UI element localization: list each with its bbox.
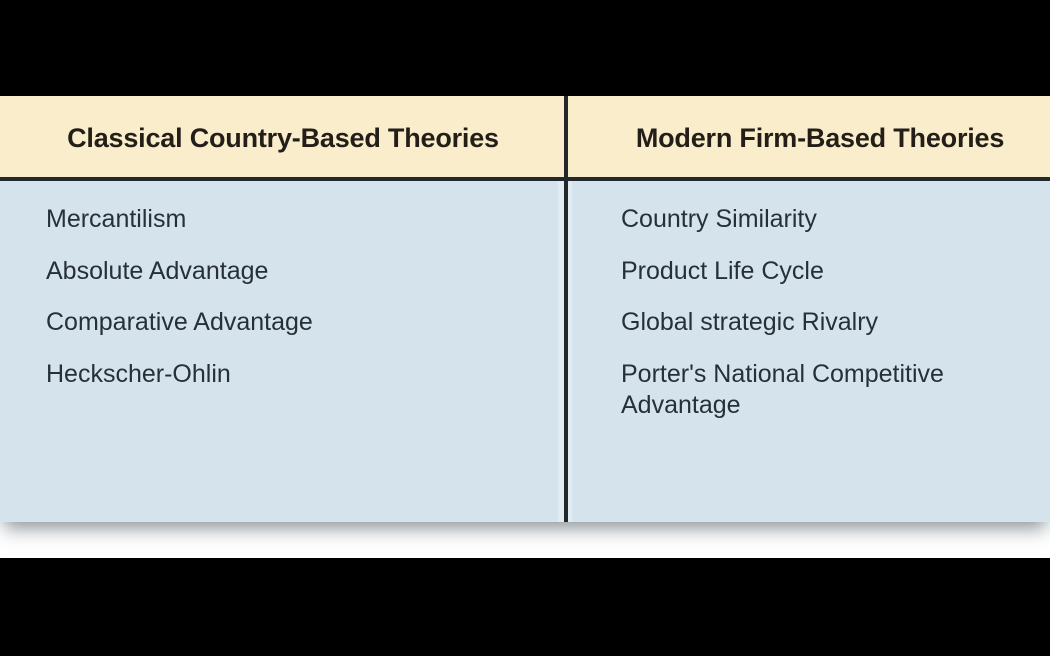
column-header-classical-label: Classical Country-Based Theories — [67, 123, 499, 154]
list-item: Country Similarity — [621, 204, 1036, 236]
list-item: Product Life Cycle — [621, 256, 1036, 288]
list-item: Absolute Advantage — [46, 256, 466, 288]
figure-canvas: Classical Country-Based Theories Modern … — [0, 0, 1050, 656]
theory-list-classical: Mercantilism Absolute Advantage Comparat… — [46, 204, 546, 390]
table-header-cell-modern: Modern Firm-Based Theories — [566, 96, 1050, 181]
comparison-table: Classical Country-Based Theories Modern … — [0, 96, 1050, 522]
list-item: Mercantilism — [46, 204, 466, 236]
letterbox-bar-bottom — [0, 558, 1050, 656]
table-grid: Classical Country-Based Theories Modern … — [0, 96, 1050, 522]
table-body-cell-modern: Country Similarity Product Life Cycle Gl… — [566, 181, 1050, 522]
list-item: Comparative Advantage — [46, 307, 466, 339]
theory-list-modern: Country Similarity Product Life Cycle Gl… — [621, 204, 1040, 422]
letterbox-bar-top — [0, 0, 1050, 96]
list-item: Heckscher-Ohlin — [46, 359, 466, 391]
table-header-cell-classical: Classical Country-Based Theories — [0, 96, 566, 181]
column-header-modern-label: Modern Firm-Based Theories — [636, 123, 1004, 154]
list-item: Porter's National Competitive Advantage — [621, 359, 1036, 422]
list-item: Global strategic Rivalry — [621, 307, 1036, 339]
table-body-cell-classical: Mercantilism Absolute Advantage Comparat… — [0, 181, 566, 522]
